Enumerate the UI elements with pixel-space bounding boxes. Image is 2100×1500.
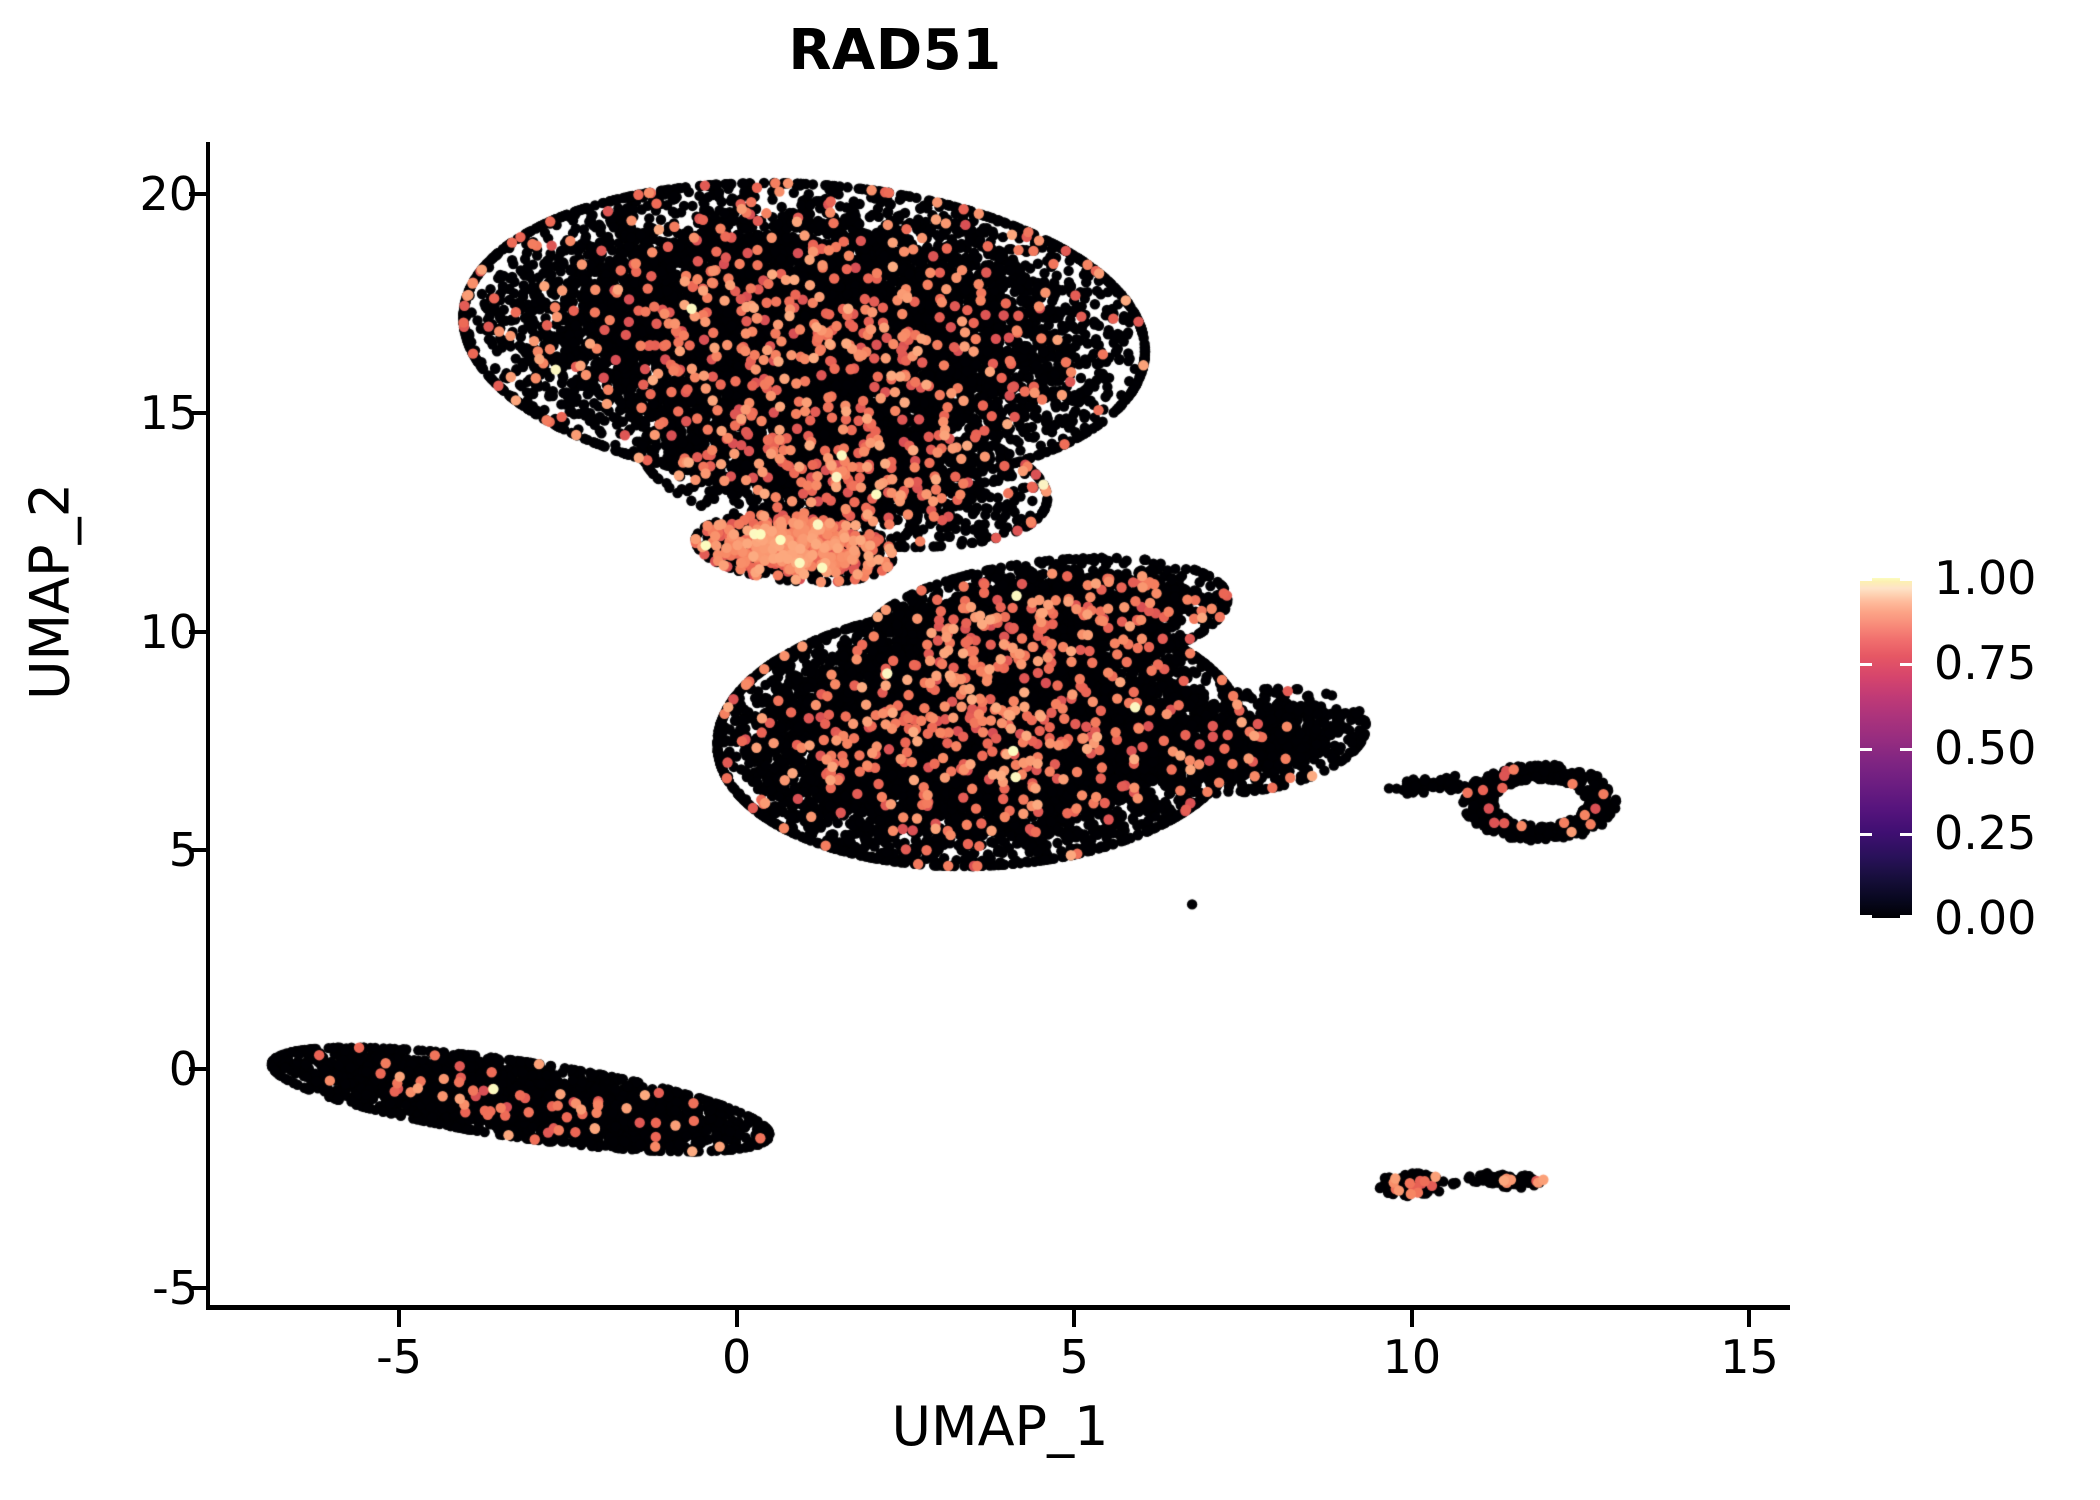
colorbar-tick-mark	[1860, 915, 1872, 918]
colorbar-tick-mark	[1900, 578, 1912, 581]
y-tick-label: 15	[139, 390, 198, 436]
colorbar-tick-mark	[1860, 663, 1872, 666]
colorbar-tick-mark	[1860, 578, 1872, 581]
x-tick-mark	[735, 1310, 739, 1327]
page-title: RAD51	[0, 18, 1790, 83]
colorbar-tick-label: 0.50	[1934, 725, 2036, 771]
colorbar-tick-mark	[1860, 833, 1872, 836]
colorbar-tick-mark	[1900, 663, 1912, 666]
y-axis-label: UMAP_2	[19, 192, 82, 992]
x-tick-label: 15	[1720, 1334, 1779, 1380]
x-axis-spine	[206, 1305, 1790, 1310]
x-tick-label: -5	[376, 1334, 422, 1380]
colorbar-tick-label: 0.25	[1934, 810, 2036, 856]
figure-canvas: RAD51 -505101520 -5051015 UMAP_1 UMAP_2 …	[0, 0, 2100, 1500]
y-tick-label: 20	[139, 171, 198, 217]
x-axis-label: UMAP_1	[210, 1395, 1790, 1458]
y-tick-label: 5	[169, 827, 198, 873]
colorbar-tick-label: 0.75	[1934, 640, 2036, 686]
x-tick-mark	[1410, 1310, 1414, 1327]
scatter-plot-canvas	[210, 142, 1790, 1305]
colorbar-tick-label: 1.00	[1934, 555, 2036, 601]
x-tick-mark	[397, 1310, 401, 1327]
x-tick-label: 0	[722, 1334, 751, 1380]
colorbar-tick-mark	[1900, 915, 1912, 918]
x-tick-label: 10	[1383, 1334, 1442, 1380]
colorbar: 1.000.750.500.250.00	[1860, 578, 1912, 918]
y-tick-label: 0	[169, 1046, 198, 1092]
colorbar-tick-mark	[1900, 748, 1912, 751]
y-tick-label: -5	[152, 1265, 198, 1311]
y-tick-label: 10	[139, 609, 198, 655]
colorbar-tick-label: 0.00	[1934, 895, 2036, 941]
x-tick-label: 5	[1060, 1334, 1089, 1380]
x-tick-mark	[1747, 1310, 1751, 1327]
plot-axes: -505101520 -5051015	[210, 142, 1790, 1305]
colorbar-tick-mark	[1900, 833, 1912, 836]
x-tick-mark	[1072, 1310, 1076, 1327]
colorbar-tick-mark	[1860, 748, 1872, 751]
